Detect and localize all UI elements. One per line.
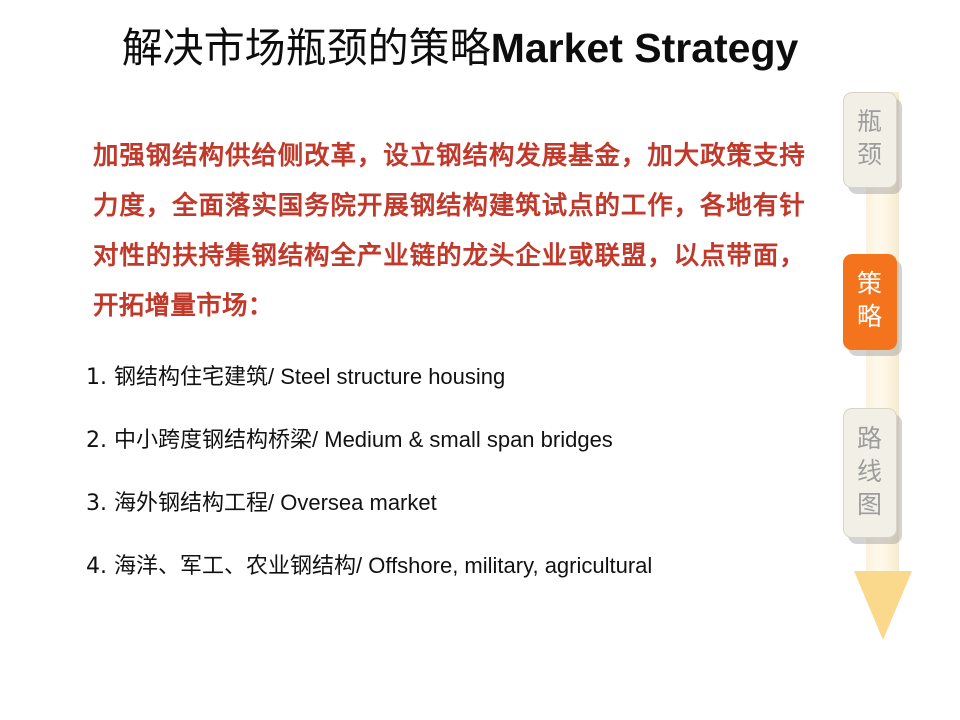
nav-stage-strategy-char-1: 策 xyxy=(844,267,896,300)
page-title-chinese: 解决市场瓶颈的策略 xyxy=(122,24,491,72)
nav-stage-strategy[interactable]: 策 略 xyxy=(843,254,897,350)
nav-stage-bottleneck-char-1: 瓶 xyxy=(844,105,896,138)
list-item: 3. 海外钢结构工程/ Oversea market xyxy=(86,488,826,519)
list-item-number: 2. xyxy=(86,428,107,453)
market-list: 1. 钢结构住宅建筑/ Steel structure housing 2. 中… xyxy=(86,362,826,582)
list-item-english: / Steel structure housing xyxy=(268,364,505,389)
nav-stage-roadmap[interactable]: 路 线 图 xyxy=(843,408,897,538)
list-item: 4. 海洋、军工、农业钢结构/ Offshore, military, agri… xyxy=(86,551,826,582)
list-item-number: 4. xyxy=(86,554,107,579)
list-item-chinese: 海洋、军工、农业钢结构 xyxy=(114,554,356,579)
list-item-chinese: 钢结构住宅建筑 xyxy=(114,365,268,390)
page-title-english: Market Strategy xyxy=(491,25,799,71)
list-item: 1. 钢结构住宅建筑/ Steel structure housing xyxy=(86,362,826,393)
nav-stage-roadmap-char-1: 路 xyxy=(844,422,896,455)
list-item-chinese: 海外钢结构工程 xyxy=(114,491,268,516)
nav-stage-roadmap-char-3: 图 xyxy=(844,488,896,521)
arrow-down-icon xyxy=(854,571,912,640)
nav-stage-roadmap-char-2: 线 xyxy=(844,455,896,488)
list-item-english: / Offshore, military, agricultural xyxy=(356,553,652,578)
stage-navigator: 瓶 颈 策 略 路 线 图 xyxy=(836,84,960,646)
list-item-english: / Medium & small span bridges xyxy=(312,427,613,452)
list-item-chinese: 中小跨度钢结构桥梁 xyxy=(114,428,312,453)
emphasis-paragraph: 加强钢结构供给侧改革，设立钢结构发展基金，加大政策支持力度，全面落实国务院开展钢… xyxy=(93,131,805,331)
nav-stage-strategy-char-2: 略 xyxy=(844,300,896,333)
list-item-number: 3. xyxy=(86,491,107,516)
page-title: 解决市场瓶颈的策略Market Strategy xyxy=(0,22,920,74)
list-item: 2. 中小跨度钢结构桥梁/ Medium & small span bridge… xyxy=(86,425,826,456)
nav-stage-bottleneck[interactable]: 瓶 颈 xyxy=(843,92,897,188)
list-item-number: 1. xyxy=(86,365,107,390)
list-item-english: / Oversea market xyxy=(268,490,437,515)
nav-stage-bottleneck-char-2: 颈 xyxy=(844,138,896,171)
